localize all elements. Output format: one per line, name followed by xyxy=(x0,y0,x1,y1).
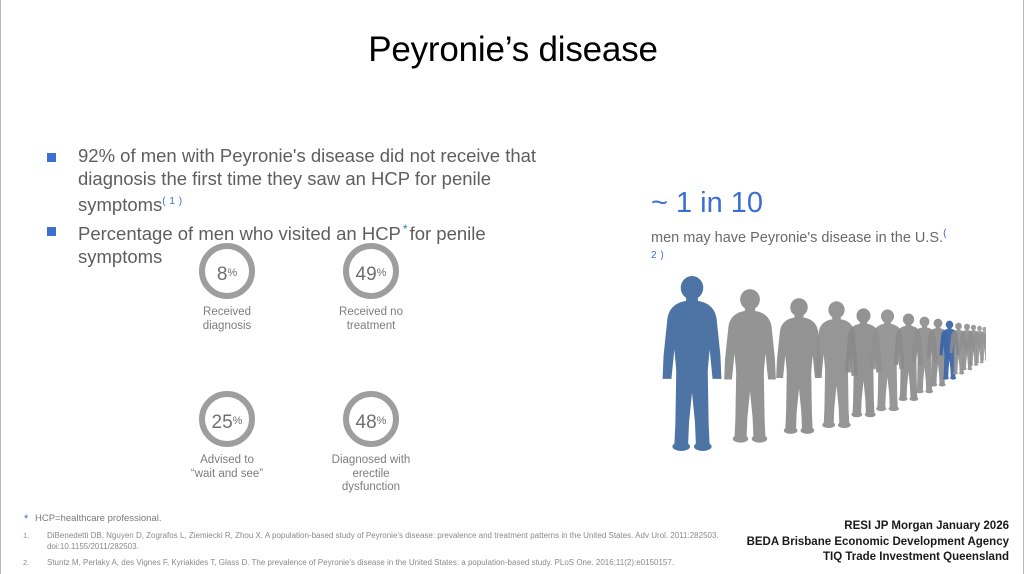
donut-ring: 48% xyxy=(343,391,399,447)
bullet-item-1: 92% of men with Peyronie's disease did n… xyxy=(45,144,565,216)
bullet-square-icon xyxy=(47,227,56,236)
silhouette-1-highlighted xyxy=(663,276,722,451)
stat-value: 49 xyxy=(356,249,377,301)
reference-item: 1. DiBenedetti DB, Nguyen D, Zografos L,… xyxy=(21,531,751,552)
asterisk-superscript: * xyxy=(401,222,410,236)
reference-text: DiBenedetti DB, Nguyen D, Zografos L, Zi… xyxy=(47,531,719,551)
prevalence-callout: ~ 1 in 10 men may have Peyronie's diseas… xyxy=(651,186,951,269)
credits-block: RESI JP Morgan January 2026 BEDA Brisban… xyxy=(747,519,1009,566)
reference-item: 2. Stuntz M, Perlaky A, des Vignes F, Ky… xyxy=(21,558,751,569)
stat-label: Advised to“wait and see” xyxy=(191,454,263,481)
slide-canvas: Peyronie’s disease 92% of men with Peyro… xyxy=(0,0,1024,574)
page-title: Peyronie’s disease xyxy=(1,28,1024,72)
stat-advised-wait-and-see: 25% Advised to“wait and see” xyxy=(177,391,277,495)
credit-line-2: BEDA Brisbane Economic Development Agenc… xyxy=(747,535,1009,551)
donut-ring: 25% xyxy=(199,391,255,447)
reference-number: 2. xyxy=(23,558,29,569)
bullet-item-1-text: 92% of men with Peyronie's disease did n… xyxy=(78,145,536,215)
credit-line-3: TIQ Trade Investment Queensland xyxy=(747,550,1009,566)
stat-donut-grid: 8% Receiveddiagnosis 49% Received notrea… xyxy=(177,243,427,495)
stat-received-diagnosis: 8% Receiveddiagnosis xyxy=(177,243,277,333)
stat-label: Receiveddiagnosis xyxy=(203,306,252,333)
stat-value: 48 xyxy=(356,397,377,449)
stat-label: Received notreatment xyxy=(339,306,403,333)
stat-diagnosed-erectile-dysfunction: 48% Diagnosed witherectiledysfunction xyxy=(321,391,421,495)
donut-ring: 49% xyxy=(343,243,399,299)
prevalence-headline: ~ 1 in 10 xyxy=(651,186,951,220)
reference-number: 1. xyxy=(23,531,29,542)
donut-ring: 8% xyxy=(199,243,255,299)
footnote-block: *HCP=healthcare professional. 1. DiBened… xyxy=(21,512,751,569)
bullet-square-icon xyxy=(47,153,56,162)
reference-text: Stuntz M, Perlaky A, des Vignes F, Kyria… xyxy=(47,558,674,567)
stat-value: 25 xyxy=(212,397,233,449)
stat-label: Diagnosed witherectiledysfunction xyxy=(332,454,411,495)
stat-value: 8 xyxy=(217,249,228,301)
prevalence-subtitle: men may have Peyronie's disease in the U… xyxy=(651,225,951,269)
hcp-abbreviation-note: *HCP=healthcare professional. xyxy=(21,512,751,525)
citation-1-superscript: ( 1 ) xyxy=(162,196,182,207)
stat-received-no-treatment: 49% Received notreatment xyxy=(321,243,421,333)
asterisk-icon: * xyxy=(24,513,28,526)
row-of-men-silhouettes xyxy=(641,272,986,457)
credit-line-1: RESI JP Morgan January 2026 xyxy=(747,519,1009,535)
stat-row-bottom: 25% Advised to“wait and see” 48% Diagnos… xyxy=(177,391,427,495)
stat-row-top: 8% Receiveddiagnosis 49% Received notrea… xyxy=(177,243,427,333)
